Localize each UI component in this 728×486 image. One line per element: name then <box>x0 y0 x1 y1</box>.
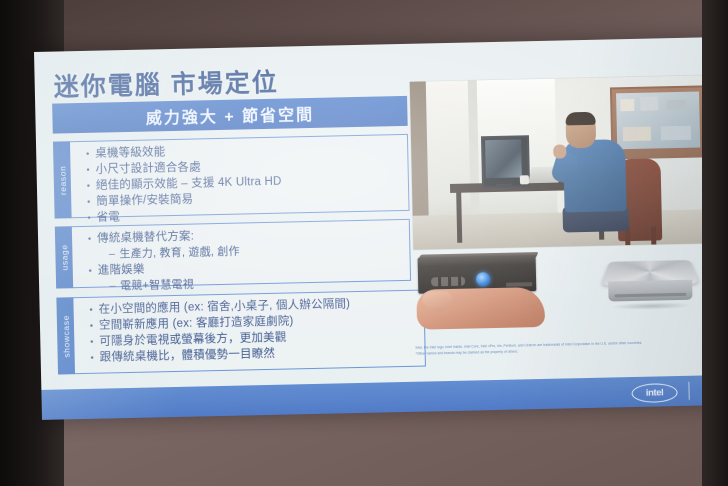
bullet-marker: • <box>81 211 96 226</box>
product-silver-body <box>608 280 692 302</box>
photo-shelf-item <box>666 100 686 110</box>
photo-person-hand <box>553 144 566 158</box>
intel-logo-icon: intel <box>631 383 677 403</box>
bullet-marker: • <box>85 351 100 366</box>
bullet-text: 進階娛樂 <box>98 263 145 279</box>
bullet-list-reason: •桌機等級效能 •小尺寸設計適合各處 •絕佳的顯示效能 – 支援 4K Ultr… <box>80 140 403 226</box>
product-black-brand-mark <box>431 277 465 287</box>
subtitle-banner-label: 威力強大 + 節省空間 <box>146 101 315 129</box>
bullet-text: 簡單操作/安裝簡易 <box>96 193 193 210</box>
photo-shelf-item <box>640 96 658 110</box>
bullet-marker: – <box>105 279 120 294</box>
photo-monitor-screen <box>485 139 522 178</box>
section-tab-showcase: showcase <box>56 297 75 374</box>
bullet-marker: • <box>84 319 99 334</box>
product-black-label <box>506 282 532 287</box>
page-title: 迷你電腦 市場定位 <box>53 63 279 104</box>
bullet-list-usage: •傳統桌機替代方案: –生產力, 教育, 遊戲, 創作 •進階娛樂 –電競+智慧… <box>82 225 404 295</box>
product-black-power-button-icon <box>476 272 490 286</box>
photo-cup <box>520 175 529 184</box>
footer-divider <box>688 382 690 400</box>
product-photo-silver-mini-pc <box>593 245 710 332</box>
bullet-text: 桌機等級效能 <box>95 145 166 162</box>
section-usage-body: •傳統桌機替代方案: –生產力, 教育, 遊戲, 創作 •進階娛樂 –電競+智慧… <box>72 219 411 288</box>
presentation-slide: 迷你電腦 市場定位 威力強大 + 節省空間 reason •桌機等級效能 •小尺… <box>34 37 726 420</box>
bullet-marker: • <box>83 264 98 279</box>
bullet-text: 省電 <box>96 210 120 226</box>
slide-page-number: 5 <box>706 384 712 395</box>
bullet-text: 生產力, 教育, 遊戲, 創作 <box>119 245 240 263</box>
bullet-marker: • <box>81 195 96 210</box>
photo-chair-leg <box>651 226 656 244</box>
projection-room: 迷你電腦 市場定位 威力強大 + 節省空間 reason •桌機等級效能 •小尺… <box>0 0 728 486</box>
bullet-marker: • <box>81 179 96 194</box>
projection-screen: 迷你電腦 市場定位 威力強大 + 節省空間 reason •桌機等級效能 •小尺… <box>34 37 726 420</box>
product-silver-shadow <box>611 302 693 311</box>
section-usage: usage •傳統桌機替代方案: –生產力, 教育, 遊戲, 創作 •進階娛樂 … <box>55 219 411 289</box>
intel-logo-text: intel <box>646 387 664 398</box>
bullet-text: 小尺寸設計適合各處 <box>95 160 201 177</box>
photo-shelf-item <box>620 99 634 111</box>
photo-desk-leg <box>456 193 462 243</box>
photo-shelf-item <box>623 127 651 142</box>
bullet-marker: • <box>80 147 95 162</box>
bullet-marker: • <box>82 232 97 247</box>
photo-monitor-foot <box>496 184 512 188</box>
lifestyle-photo-man-at-desk <box>410 75 709 249</box>
section-tab-showcase-label: showcase <box>60 314 71 357</box>
bullet-text: 跟傳統桌機比，體積優勢一目瞭然 <box>100 347 276 366</box>
section-reason-body: •桌機等級效能 •小尺寸設計適合各處 •絕佳的顯示效能 – 支援 4K Ultr… <box>70 134 410 218</box>
section-reason: reason •桌機等級效能 •小尺寸設計適合各處 •絕佳的顯示效能 – 支援 … <box>53 134 410 219</box>
product-photo-black-mini-pc <box>413 248 565 336</box>
slide-footer: intel 5 <box>41 375 725 420</box>
bullet-text: 傳統桌機替代方案: <box>97 230 194 247</box>
section-showcase: showcase •在小空間的應用 (ex: 宿舍,小桌子, 個人辦公隔間) •… <box>56 290 426 375</box>
section-showcase-body: •在小空間的應用 (ex: 宿舍,小桌子, 個人辦公隔間) •空間嶄新應用 (e… <box>73 290 426 375</box>
subtitle-banner: 威力強大 + 節省空間 <box>52 96 408 134</box>
legal-disclaimer: Intel, the Intel logo, Intel Inside, Int… <box>415 339 715 356</box>
bullet-list-showcase: •在小空間的應用 (ex: 宿舍,小桌子, 個人辦公隔間) •空間嶄新應用 (e… <box>83 296 418 366</box>
bullet-marker: • <box>80 163 95 178</box>
bullet-marker: – <box>104 247 119 262</box>
photo-person-hair <box>565 112 595 126</box>
section-tab-usage: usage <box>55 226 73 288</box>
section-tab-reason: reason <box>53 141 72 218</box>
section-tab-reason-label: reason <box>57 165 68 195</box>
photo-shelf-item <box>661 126 691 141</box>
product-hand-fingers <box>422 291 452 308</box>
bullet-text: 電競+智慧電視 <box>120 278 194 295</box>
section-tab-usage-label: usage <box>59 244 70 270</box>
bullet-marker: • <box>84 335 99 350</box>
bullet-marker: • <box>83 303 98 318</box>
